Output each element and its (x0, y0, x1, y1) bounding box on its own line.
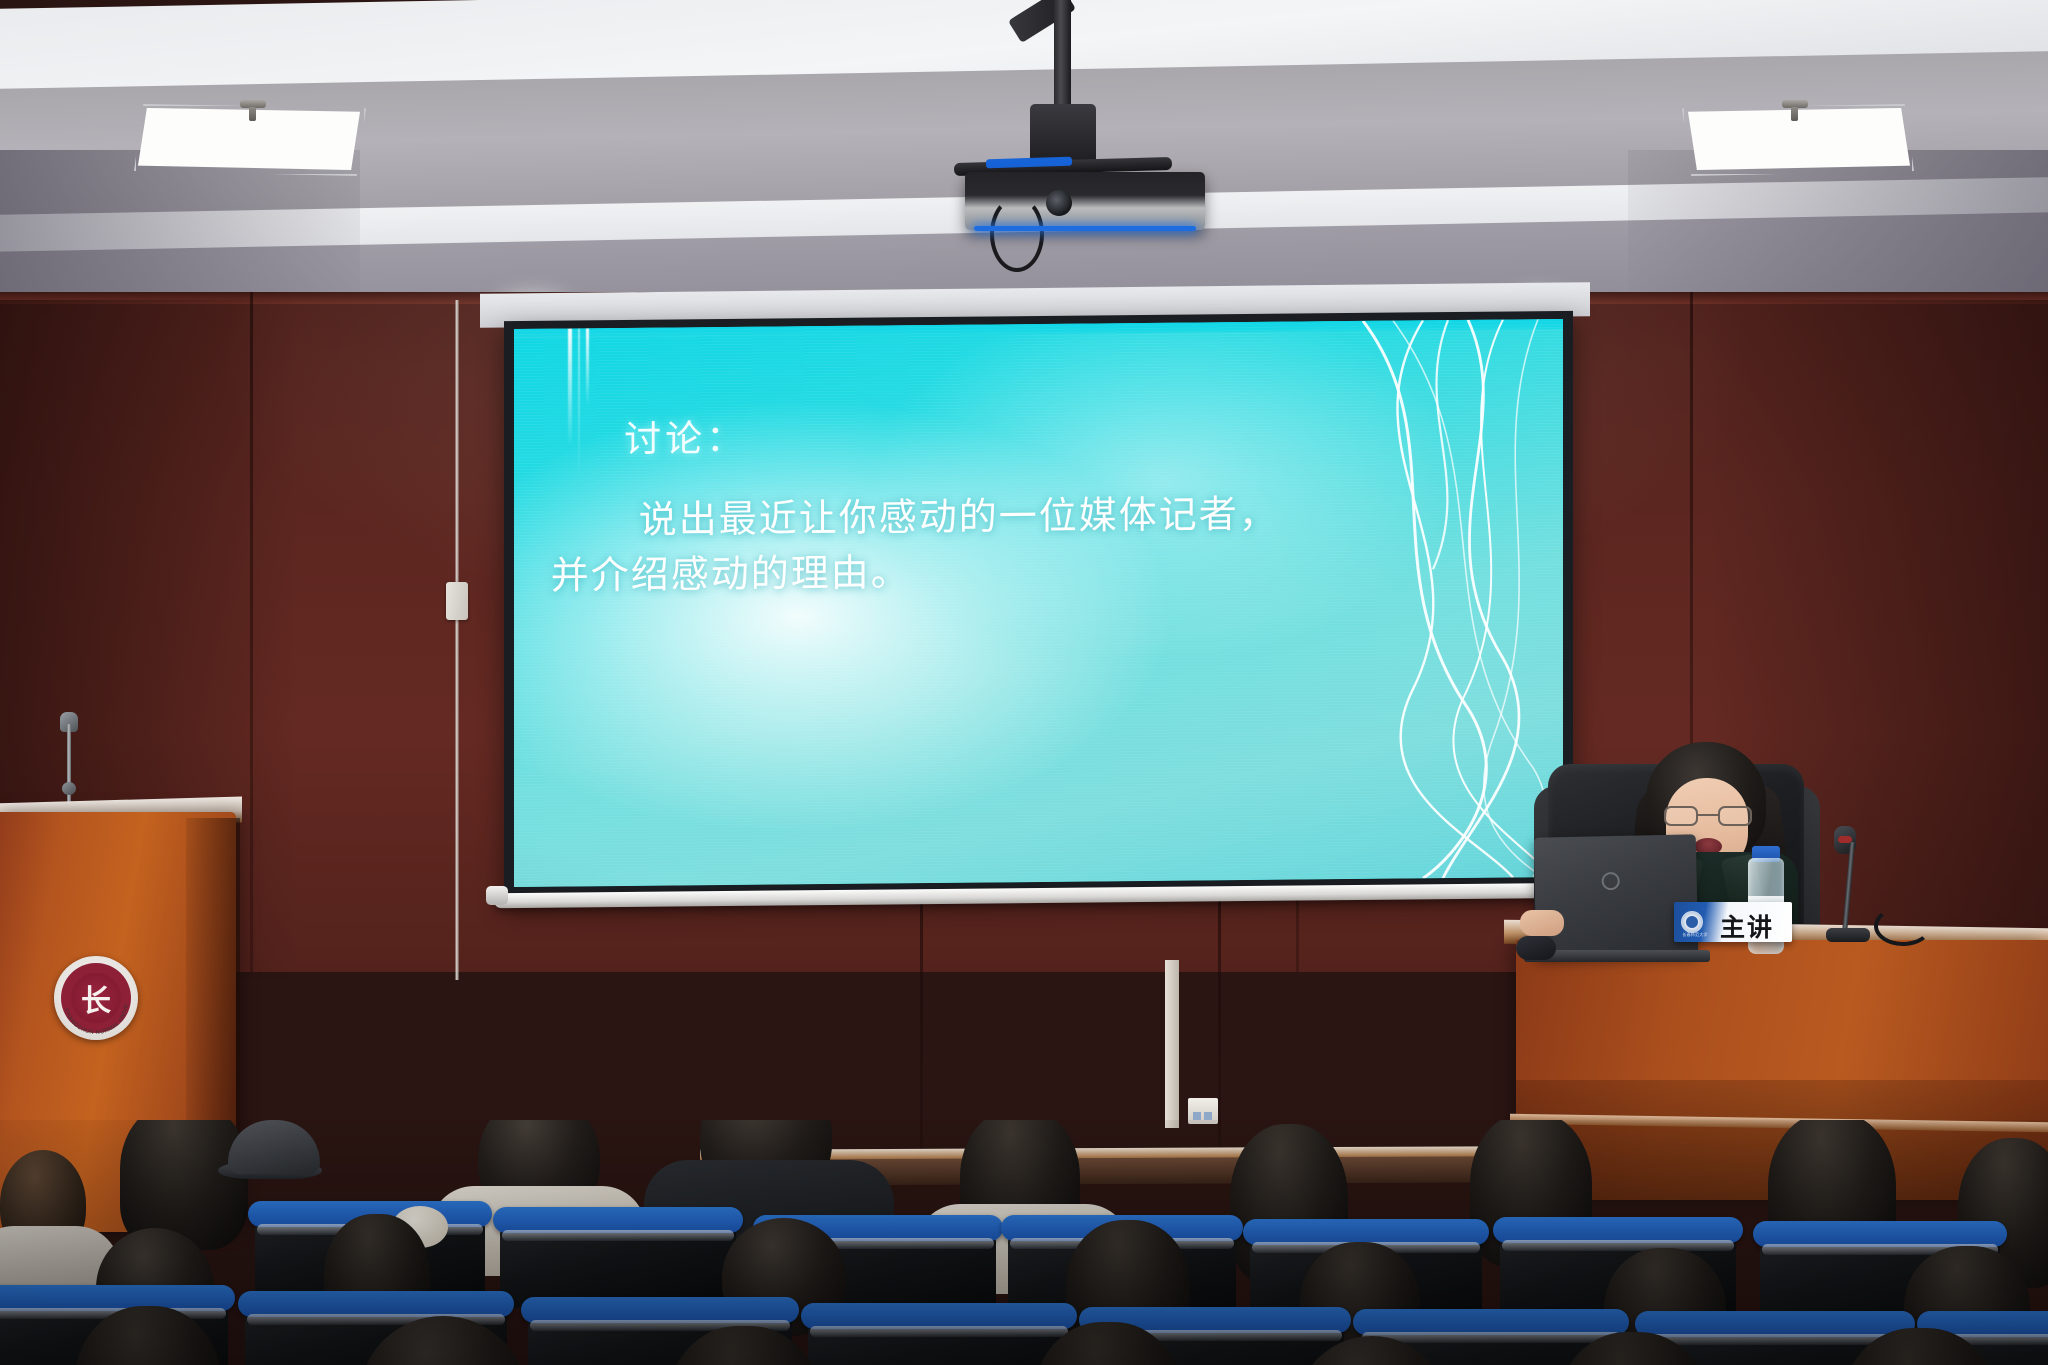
sprinkler-left (240, 100, 266, 108)
nameplate-label: 主讲人 (1720, 908, 1792, 942)
panel-light-right (1688, 108, 1910, 170)
projector-cable-loop (990, 196, 1044, 272)
nameplate-seal-text: 长春师范大学 (1678, 932, 1712, 938)
desk-mic-base (1826, 928, 1870, 942)
projector-mount-pipe (1054, 0, 1071, 112)
eyeglasses-icon (1664, 806, 1752, 826)
slide-body-line-1: 说出最近让你感动的一位媒体记者， (551, 484, 1516, 548)
audience-area (0, 1120, 2048, 1365)
screen-surface: 讨论： 说出最近让你感动的一位媒体记者， 并介绍感动的理由。 (514, 319, 1563, 887)
speaker-hand (1520, 910, 1564, 936)
emblem-arc-text: CHANGCHUN NORMAL UNIVERSITY (54, 956, 138, 1040)
svg-text:CHANGCHUN NORMAL UNIVERSITY: CHANGCHUN NORMAL UNIVERSITY (54, 956, 130, 1036)
screen-roller-cap-left (486, 886, 508, 905)
nameplate-seal-icon (1681, 911, 1703, 933)
audience-shadow-overlay (0, 1120, 2048, 1365)
projector-lens (1046, 190, 1072, 216)
lecture-hall-photo: 讨论： 说出最近让你感动的一位媒体记者， 并介绍感动的理由。 长 (0, 0, 2048, 1365)
podium-mic-joint (62, 782, 76, 795)
slide-heading: 讨论： (624, 408, 747, 463)
cable-connector-box (446, 582, 468, 620)
slide-text-block: 讨论： 说出最近让你感动的一位媒体记者， 并介绍感动的理由。 (514, 319, 1563, 887)
wall-column (1165, 960, 1179, 1128)
laptop-logo-icon (1602, 872, 1620, 890)
slide-body-line-2: 并介绍感动的理由。 (551, 539, 1516, 603)
projection-screen: 讨论： 说出最近让你感动的一位媒体记者， 并介绍感动的理由。 (504, 311, 1573, 901)
slide-body: 说出最近让你感动的一位媒体记者， 并介绍感动的理由。 (551, 484, 1516, 603)
desk-cable (1874, 906, 1932, 946)
computer-mouse[interactable] (1516, 936, 1556, 960)
speaker-nameplate: 长春师范大学 主讲人 (1674, 902, 1792, 942)
sprinkler-right (1782, 100, 1808, 108)
projector-status-led (974, 226, 1196, 231)
university-emblem: 长 CHANGCHUN NORMAL UNIVERSITY (54, 956, 138, 1040)
hanging-cable (455, 300, 459, 980)
